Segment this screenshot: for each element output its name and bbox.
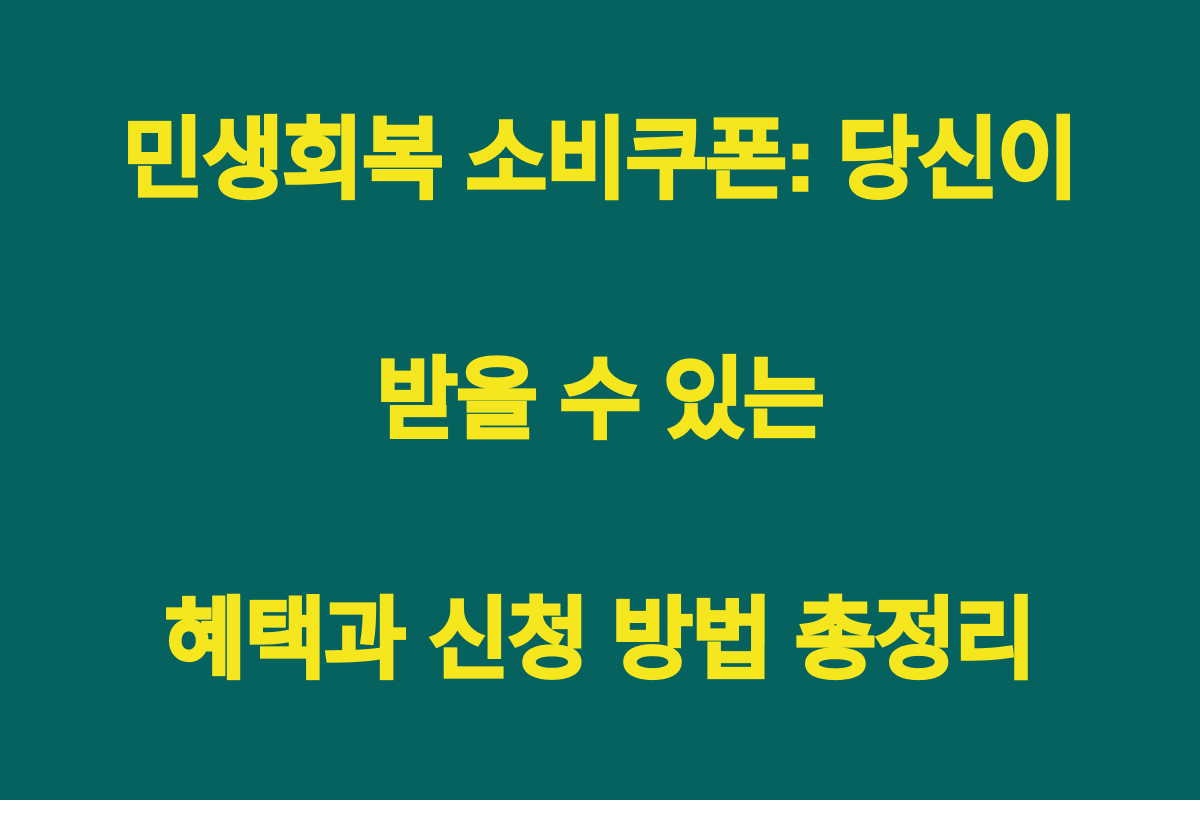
page-title: 민생회복 소비쿠폰: 당신이 받을 수 있는 혜택과 신청 방법 총정리	[35, 0, 1165, 820]
page-title-line-3: 혜택과 신청 방법 총정리	[35, 580, 1165, 700]
page-title-line-2: 받을 수 있는	[35, 340, 1165, 460]
page-title-line-1: 민생회복 소비쿠폰: 당신이	[35, 100, 1165, 220]
thumbnail-card: 민생회복 소비쿠폰: 당신이 받을 수 있는 혜택과 신청 방법 총정리	[0, 0, 1200, 800]
